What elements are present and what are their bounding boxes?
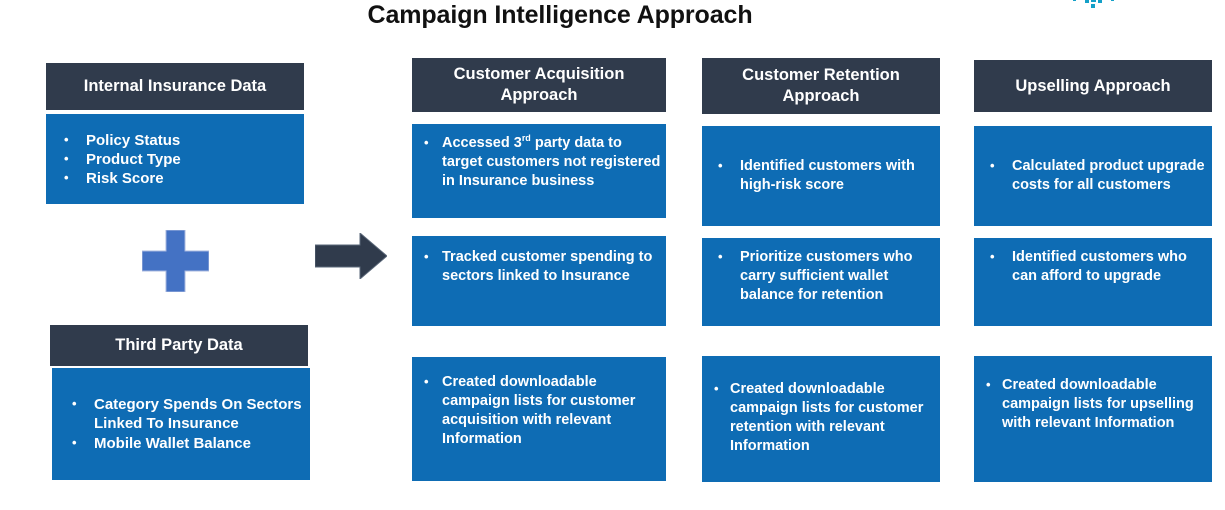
retention-step-3-list: Created downloadable campaign lists for … (702, 356, 940, 456)
retention-step-3-box: Created downloadable campaign lists for … (702, 356, 940, 482)
upselling-step-3-list: Created downloadable campaign lists for … (974, 356, 1212, 433)
acquisition-step-1-list: Accessed 3rd party data to target custom… (412, 124, 666, 191)
list-item: Tracked customer spending to sectors lin… (412, 248, 666, 286)
list-item: Created downloadable campaign lists for … (702, 380, 940, 456)
internal-insurance-data-list: Policy Status Product Type Risk Score (46, 131, 304, 188)
acquisition-step-2-box: Tracked customer spending to sectors lin… (412, 236, 666, 326)
retention-step-1-box: Identified customers with high-risk scor… (702, 126, 940, 226)
list-item: Created downloadable campaign lists for … (412, 373, 666, 449)
retention-step-1-list: Identified customers with high-risk scor… (702, 157, 940, 195)
list-item: Accessed 3rd party data to target custom… (412, 134, 666, 191)
third-party-data-box: Category Spends On Sectors Linked To Ins… (52, 368, 310, 480)
page-title: Campaign Intelligence Approach (0, 0, 1120, 30)
upselling-approach-header: Upselling Approach (974, 60, 1212, 112)
list-item: Calculated product upgrade costs for all… (974, 157, 1212, 195)
list-item-text-before: Accessed 3 (442, 135, 522, 151)
arrow-right-icon (315, 233, 387, 279)
acquisition-step-3-box: Created downloadable campaign lists for … (412, 357, 666, 481)
list-item: Prioritize customers who carry sufficien… (702, 248, 940, 305)
slide-canvas: Campaign Intelligence Approach Internal … (0, 0, 1225, 510)
upselling-step-2-box: Identified customers who can afford to u… (974, 238, 1212, 326)
upselling-step-3-box: Created downloadable campaign lists for … (974, 356, 1212, 482)
retention-step-2-box: Prioritize customers who carry sufficien… (702, 238, 940, 326)
customer-retention-approach-header: Customer Retention Approach (702, 58, 940, 114)
upselling-step-2-list: Identified customers who can afford to u… (974, 238, 1212, 286)
retention-step-2-list: Prioritize customers who carry sufficien… (702, 238, 940, 305)
list-item: Mobile Wallet Balance (52, 434, 310, 454)
acquisition-step-2-list: Tracked customer spending to sectors lin… (412, 236, 666, 286)
list-item: Category Spends On Sectors Linked To Ins… (52, 395, 310, 434)
acquisition-step-3-list: Created downloadable campaign lists for … (412, 357, 666, 449)
corner-logo-icon (1071, 0, 1117, 11)
list-item: Risk Score (46, 169, 304, 188)
upselling-step-1-box: Calculated product upgrade costs for all… (974, 126, 1212, 226)
list-item: Product Type (46, 150, 304, 169)
plus-icon (142, 230, 209, 292)
list-item: Created downloadable campaign lists for … (974, 376, 1212, 433)
list-item: Identified customers with high-risk scor… (702, 157, 940, 195)
internal-insurance-data-header: Internal Insurance Data (46, 63, 304, 110)
list-item: Identified customers who can afford to u… (974, 248, 1212, 286)
upselling-step-1-list: Calculated product upgrade costs for all… (974, 157, 1212, 195)
list-item: Policy Status (46, 131, 304, 150)
customer-acquisition-approach-header: Customer Acquisition Approach (412, 58, 666, 112)
third-party-data-list: Category Spends On Sectors Linked To Ins… (52, 395, 310, 454)
internal-insurance-data-box: Policy Status Product Type Risk Score (46, 114, 304, 204)
acquisition-step-1-box: Accessed 3rd party data to target custom… (412, 124, 666, 218)
third-party-data-header: Third Party Data (50, 325, 308, 366)
ordinal-suffix: rd (522, 133, 531, 143)
